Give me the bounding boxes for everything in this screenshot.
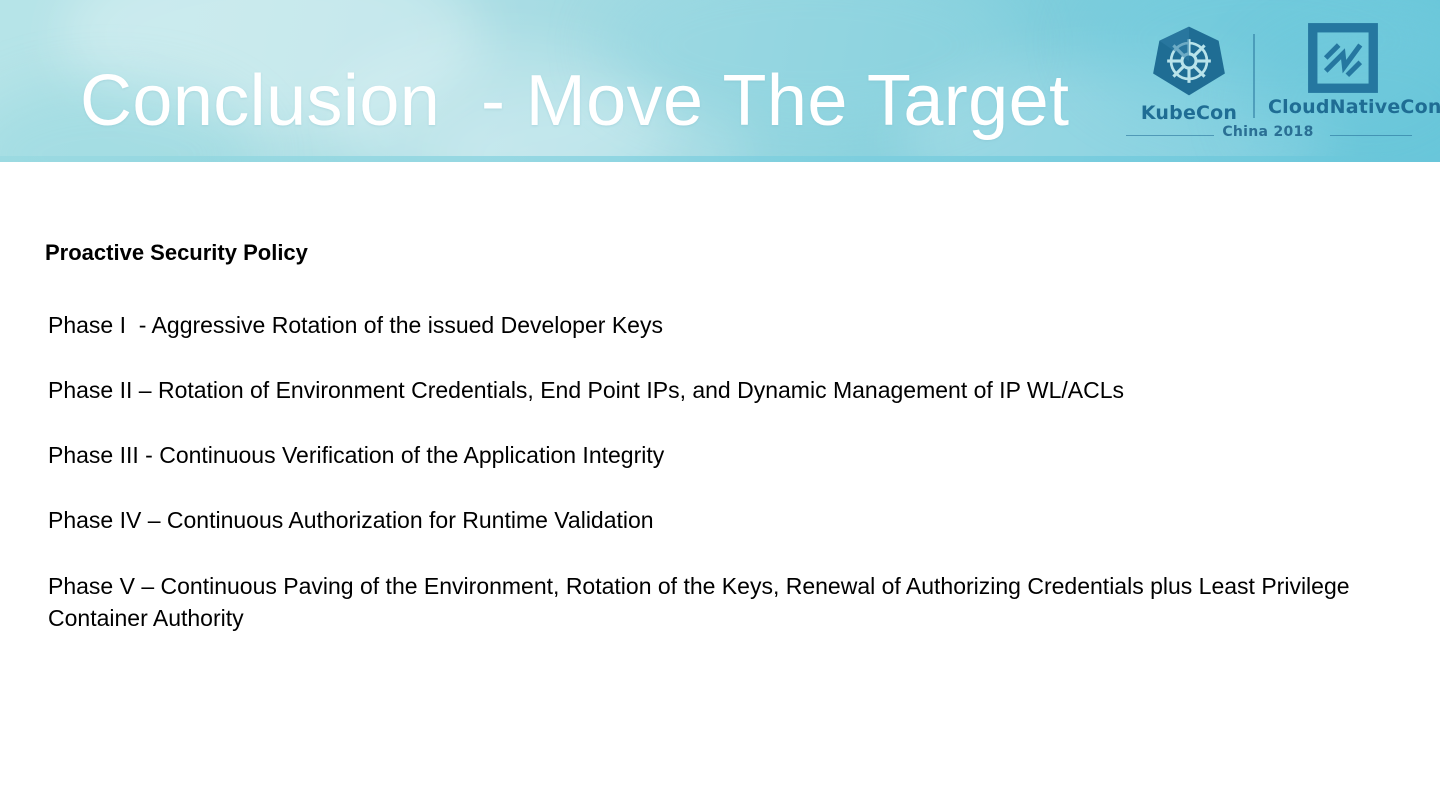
phase-item-1: Phase I - Aggressive Rotation of the iss… <box>48 309 663 341</box>
kubecon-logo: KubeCon <box>1134 22 1244 124</box>
event-location-row: China 2018 <box>1118 124 1418 146</box>
kubecon-wordmark: KubeCon <box>1134 102 1244 124</box>
cloudnativecon-wordmark: CloudNativeCon <box>1268 96 1418 118</box>
page-title: Conclusion - Move The Target <box>80 58 1069 144</box>
kubernetes-helm-icon <box>1150 22 1228 100</box>
body-heading: Proactive Security Policy <box>45 240 308 266</box>
slide-header-banner: Conclusion - Move The Target <box>0 0 1440 162</box>
event-logo-lockup: KubeCon CloudNativeCon China 2018 <box>1118 14 1418 149</box>
logo-rule-right <box>1330 135 1412 136</box>
phase-item-4: Phase IV – Continuous Authorization for … <box>48 504 654 536</box>
phase-item-3: Phase III - Continuous Verification of t… <box>48 439 664 471</box>
logo-divider <box>1253 34 1255 118</box>
phase-item-2: Phase II – Rotation of Environment Crede… <box>48 374 1408 406</box>
presentation-slide: Conclusion - Move The Target <box>0 0 1440 810</box>
event-location-label: China 2018 <box>1118 124 1418 140</box>
slide-body: Proactive Security Policy Phase I - Aggr… <box>0 162 1440 810</box>
phase-item-5: Phase V – Continuous Paving of the Envir… <box>48 570 1396 634</box>
cloudnativecon-logo: CloudNativeCon <box>1268 22 1418 118</box>
cncf-square-icon <box>1307 22 1379 94</box>
